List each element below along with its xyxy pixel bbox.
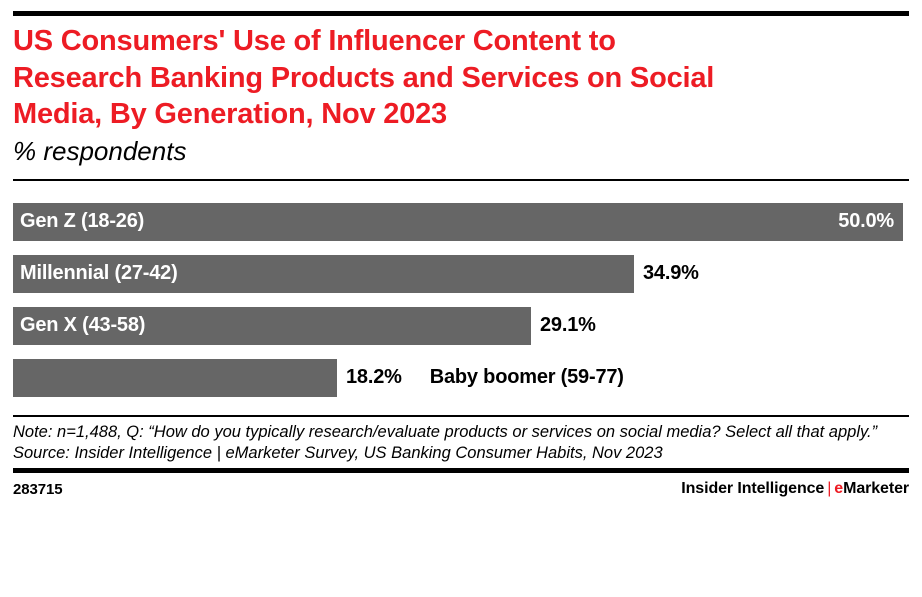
brand-emarketer-initial: e <box>834 480 843 497</box>
brand-emarketer-rest: Marketer <box>843 480 909 497</box>
chart-id: 283715 <box>13 481 62 498</box>
bar-outside-group: 29.1% <box>531 307 596 345</box>
brand-insider-intelligence: Insider Intelligence <box>681 480 824 497</box>
bar-gen-z: Gen Z (18-26) 50.0% <box>13 203 903 241</box>
bar-value-label: 50.0% <box>838 210 894 233</box>
header-spacer <box>13 167 909 179</box>
bar-value-label: 18.2% <box>346 366 402 389</box>
brand-lockup: Insider Intelligence|eMarketer <box>681 480 909 498</box>
note-text: Note: n=1,488, Q: “How do you typically … <box>13 422 909 443</box>
bar-value-label: 29.1% <box>540 314 596 337</box>
brand-separator: | <box>827 480 831 497</box>
bar-category-label: Baby boomer (59-77) <box>430 366 624 389</box>
bar-row: Gen X (43-58) 29.1% <box>13 307 909 345</box>
page-title: US Consumers' Use of Influencer Content … <box>13 23 909 133</box>
bar-row: Millennial (27-42) 34.9% <box>13 255 909 293</box>
chart-header: US Consumers' Use of Influencer Content … <box>13 16 909 167</box>
bottom-bar: 283715 Insider Intelligence|eMarketer <box>13 473 909 498</box>
footnotes: Note: n=1,488, Q: “How do you typically … <box>13 417 909 468</box>
bar-category-label: Millennial (27-42) <box>20 262 178 285</box>
bar-chart-plot: Gen Z (18-26) 50.0% Millennial (27-42) 3… <box>13 181 909 415</box>
bar-gen-x: Gen X (43-58) <box>13 307 531 345</box>
bar-millennial: Millennial (27-42) <box>13 255 634 293</box>
bar-category-label: Gen Z (18-26) <box>20 210 144 233</box>
bar-row: Gen Z (18-26) 50.0% <box>13 203 909 241</box>
bar-value-label: 34.9% <box>643 262 699 285</box>
bar-outside-group: 34.9% <box>634 255 699 293</box>
source-text: Source: Insider Intelligence | eMarketer… <box>13 443 909 464</box>
bar-category-label: Gen X (43-58) <box>20 314 145 337</box>
bar-row: 18.2% Baby boomer (59-77) <box>13 359 909 397</box>
bar-baby-boomer <box>13 359 337 397</box>
bar-outside-group: 18.2% Baby boomer (59-77) <box>337 359 624 397</box>
chart-subtitle: % respondents <box>13 136 909 167</box>
chart-card: US Consumers' Use of Influencer Content … <box>0 11 922 597</box>
